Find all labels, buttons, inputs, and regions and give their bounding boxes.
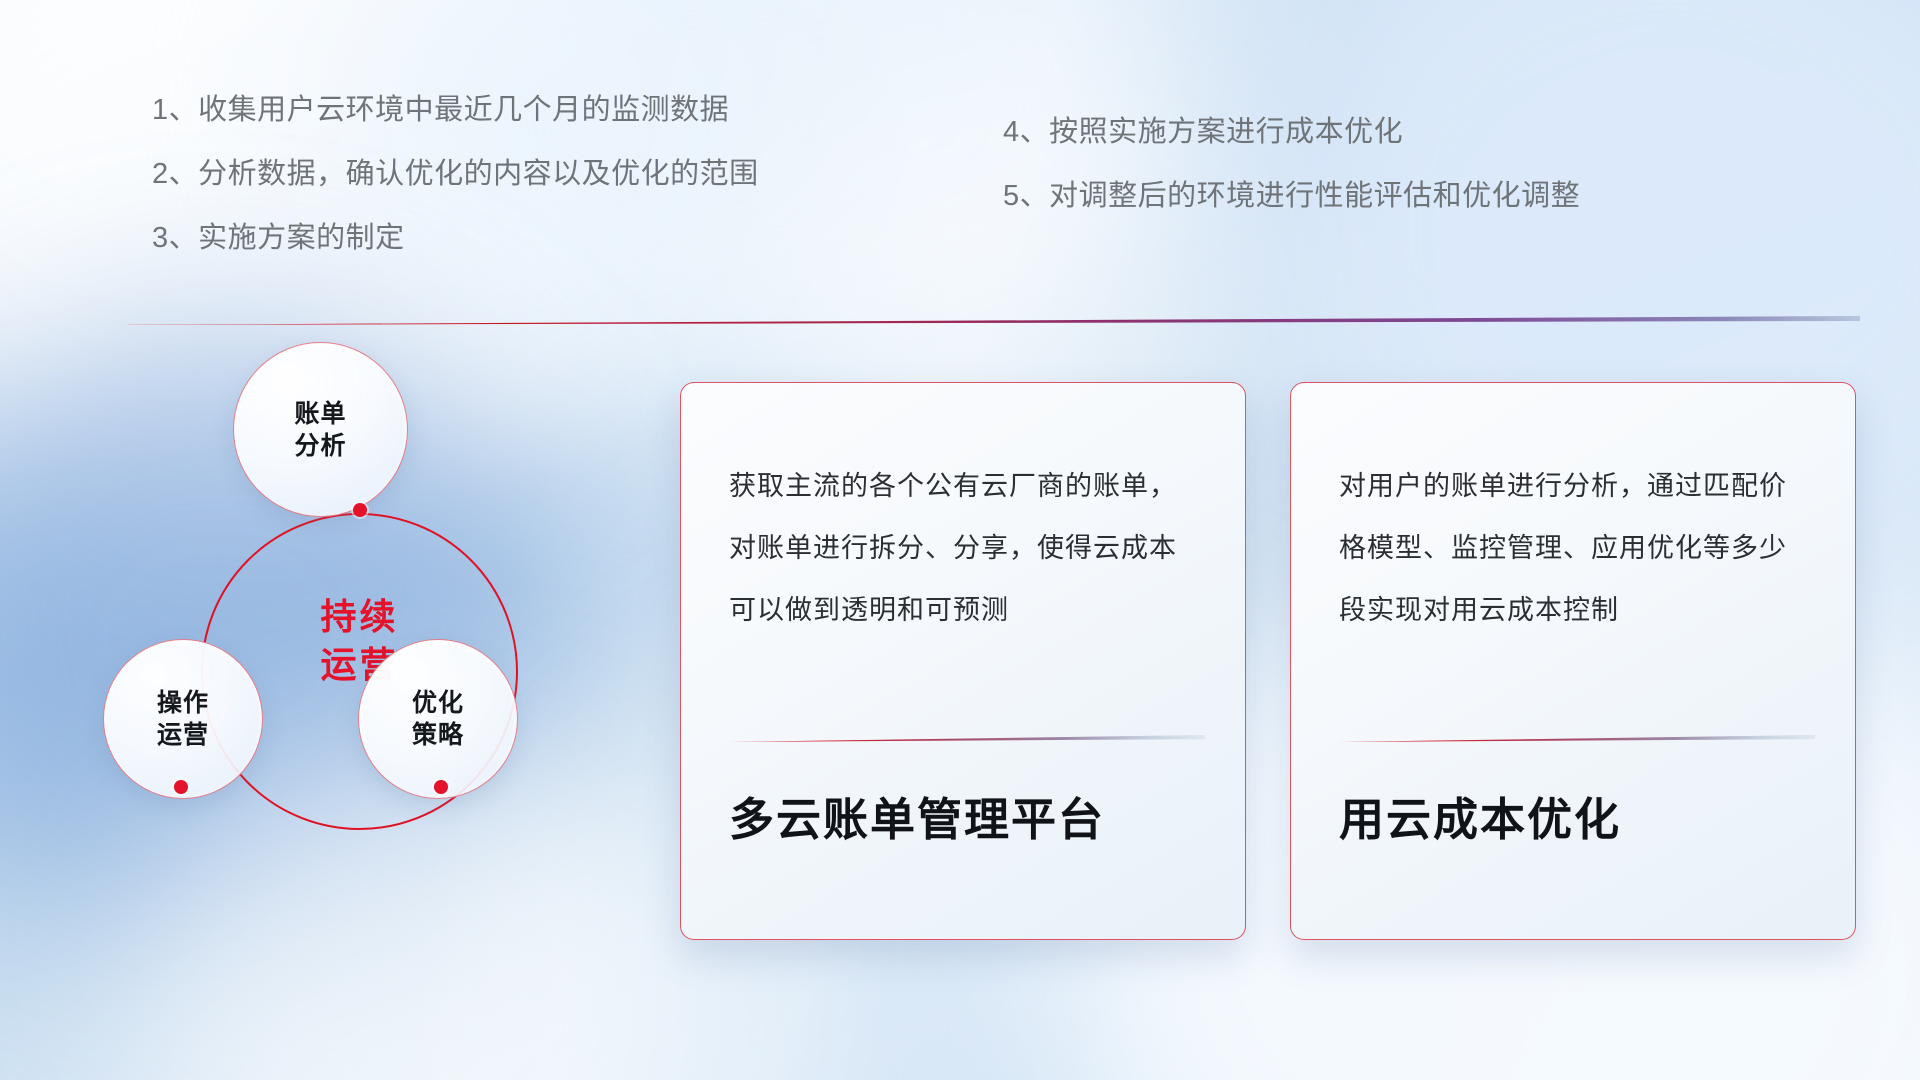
bubble-label-line2: 策略 [412,719,464,751]
continuous-operation-diagram: 持续 运营 账单 分析 操作 运营 优化 策略 [95,355,635,955]
card-divider [1339,735,1815,742]
bubble-label-line1: 账单 [294,398,346,430]
card-description: 对用户的账单进行分析，通过匹配价格模型、监控管理、应用优化等多少段实现对用云成本… [1291,383,1855,641]
diagram-bubble-optimization-strategy[interactable]: 优化 策略 [358,639,518,799]
bubble-label-line1: 优化 [412,687,464,719]
steps-left-column: 1、收集用户云环境中最近几个月的监测数据 2、分析数据，确认优化的内容以及优化的… [152,96,759,288]
step-item: 5、对调整后的环境进行性能评估和优化调整 [1003,182,1580,211]
feature-card-multicloud-billing[interactable]: 获取主流的各个公有云厂商的账单，对账单进行拆分、分享，使得云成本可以做到透明和可… [680,382,1246,940]
card-title: 用云成本优化 [1339,783,1621,848]
diagram-bubble-operation[interactable]: 操作 运营 [103,639,263,799]
diagram-node-dot [174,780,188,794]
diagram-bubble-bill-analysis[interactable]: 账单 分析 [233,342,408,517]
diagram-node-dot [353,503,367,517]
step-item: 1、收集用户云环境中最近几个月的监测数据 [152,96,759,125]
bubble-label-line2: 运营 [157,719,209,751]
bubble-label-line1: 操作 [157,687,209,719]
step-item: 2、分析数据，确认优化的内容以及优化的范围 [152,160,759,189]
steps-right-column: 4、按照实施方案进行成本优化 5、对调整后的环境进行性能评估和优化调整 [1003,118,1580,246]
step-item: 3、实施方案的制定 [152,224,759,253]
diagram-node-dot [434,780,448,794]
feature-card-cost-optimization[interactable]: 对用户的账单进行分析，通过匹配价格模型、监控管理、应用优化等多少段实现对用云成本… [1290,382,1856,940]
step-item: 4、按照实施方案进行成本优化 [1003,118,1580,147]
bubble-label-line2: 分析 [294,430,346,462]
center-label-line1: 持续 [201,593,518,641]
card-title: 多云账单管理平台 [729,783,1105,848]
card-description: 获取主流的各个公有云厂商的账单，对账单进行拆分、分享，使得云成本可以做到透明和可… [681,383,1245,641]
card-divider [729,735,1205,742]
